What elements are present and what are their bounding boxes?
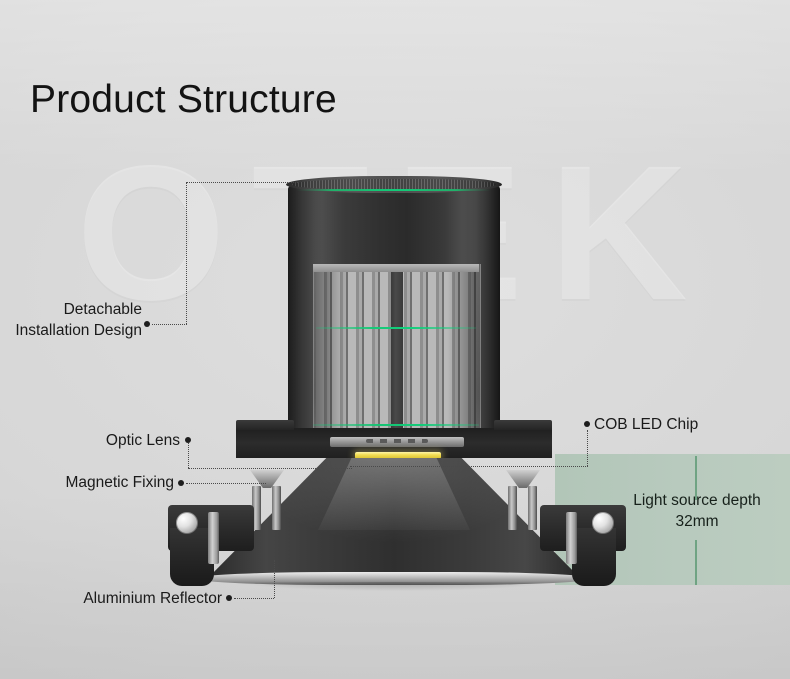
leader-detachable-vertical <box>186 182 187 324</box>
product-structure-diagram: OTEK Light source depth 32mm <box>0 0 790 679</box>
leader-aluminium-reflector-horizontal <box>234 598 274 599</box>
label-magnetic-fixing: Magnetic Fixing <box>20 472 174 493</box>
bullet-optic-lens <box>185 437 191 443</box>
leader-magnetic-fixing <box>186 483 266 484</box>
housing-shoulder-left-tab <box>236 420 294 430</box>
housing-shoulder-right-tab <box>494 420 552 430</box>
bracket-rod-right <box>566 512 577 564</box>
magnet-left <box>176 512 198 534</box>
leader-optic-lens-vertical <box>188 440 189 468</box>
fin-shading <box>316 272 476 440</box>
leader-optic-lens-horizontal <box>188 468 352 469</box>
bullet-magnetic-fixing <box>178 480 184 486</box>
lens-deck-studs <box>366 439 428 443</box>
label-aluminium-reflector: Aluminium Reflector <box>20 588 222 609</box>
cob-led-chip <box>355 452 441 459</box>
magnet-right <box>592 512 614 534</box>
fin-top-plate <box>313 264 479 272</box>
trim-shadow <box>190 582 598 594</box>
top-green-accent-line <box>296 189 492 191</box>
bracket-leg-right <box>572 528 616 586</box>
bracket-rod-left <box>208 512 219 564</box>
mount-post-left-b <box>272 486 281 530</box>
label-cob-led-chip: COB LED Chip <box>594 414 784 435</box>
inner-green-accent-line-lower <box>313 424 479 426</box>
label-optic-lens: Optic Lens <box>40 430 180 451</box>
leader-aluminium-reflector-vertical <box>274 560 275 598</box>
mount-post-right-a <box>508 486 517 530</box>
leader-detachable-stub <box>152 324 187 325</box>
label-detachable-installation-design: Detachable Installation Design <box>0 299 142 341</box>
bullet-detachable <box>144 321 150 327</box>
inner-green-accent-line-upper <box>316 327 476 329</box>
mount-post-right-b <box>528 486 537 530</box>
leader-cob-led-chip-vertical <box>587 430 588 466</box>
leader-detachable-top <box>186 182 298 183</box>
bullet-aluminium-reflector <box>226 595 232 601</box>
page-title: Product Structure <box>30 78 337 122</box>
leader-cob-led-chip-horizontal <box>350 466 588 467</box>
bullet-cob-led-chip <box>584 421 590 427</box>
